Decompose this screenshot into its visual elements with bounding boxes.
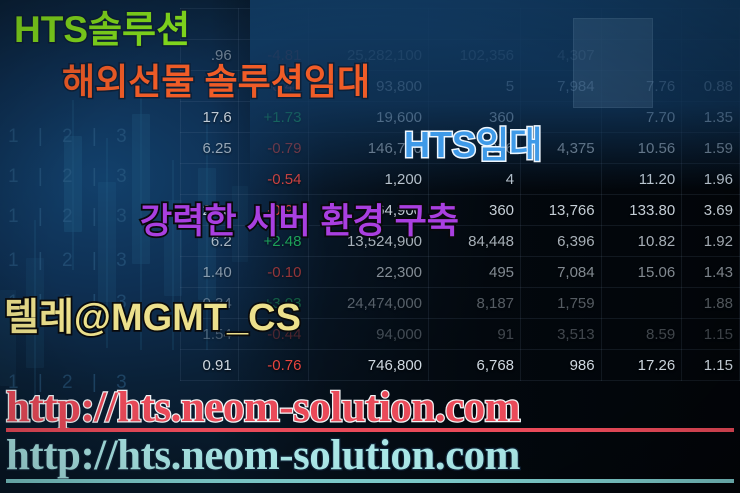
table-cell: 1.15 (682, 350, 740, 381)
table-cell: 17.6 (181, 102, 239, 133)
table-cell: 1,759 (521, 288, 602, 319)
table-cell: 0.88 (682, 71, 740, 102)
table-cell: -0.79 (238, 133, 308, 164)
table-cell: 3.69 (682, 195, 740, 226)
table-cell: 0.91 (181, 350, 239, 381)
promo-headline-4: 강력한 서버 환경 구축 (140, 204, 459, 239)
table-cell: -0.10 (238, 257, 308, 288)
table-cell: 15.06 (601, 257, 682, 288)
table-cell: 7,084 (521, 257, 602, 288)
table-cell: 1.88 (682, 288, 740, 319)
column-marker: 1 | 2 | 3 (8, 206, 134, 228)
table-cell: 495 (429, 257, 521, 288)
highlight-box (573, 18, 653, 108)
table-cell: 11.20 (601, 164, 682, 195)
table-row: -0.541,200411.201.96 (181, 164, 740, 195)
column-marker: 1 | 2 | 3 (8, 166, 134, 188)
table-cell: 6.25 (181, 133, 239, 164)
table-cell: 133.80 (601, 195, 682, 226)
column-marker: 1 | 2 | 3 (8, 250, 134, 272)
table-cell: 10.56 (601, 133, 682, 164)
table-cell (238, 9, 308, 40)
table-cell: +1.73 (238, 102, 308, 133)
table-cell: 3,513 (521, 319, 602, 350)
table-cell: 8,187 (429, 288, 521, 319)
table-cell: 1.40 (181, 257, 239, 288)
table-cell: 4 (429, 164, 521, 195)
promo-headline-1: HTS솔루션 (14, 11, 190, 48)
promo-banner: 1 | 2 | 3 1 | 2 | 3 1 | 2 | 3 1 | 2 | 3 … (0, 0, 740, 493)
promo-headline-2: 해외선물 솔루션임대 (62, 64, 370, 100)
table-row (181, 9, 740, 40)
table-cell (308, 9, 429, 40)
table-cell: 6,768 (429, 350, 521, 381)
promo-telegram-handle: 텔레@MGMT_CS (4, 299, 301, 337)
table-cell: 102,356 (429, 40, 521, 71)
table-cell: 986 (521, 350, 602, 381)
table-cell (429, 9, 521, 40)
table-cell: 8.59 (601, 319, 682, 350)
table-cell: 1.43 (682, 257, 740, 288)
table-cell (521, 164, 602, 195)
table-cell (682, 40, 740, 71)
table-cell: -0.76 (238, 350, 308, 381)
table-cell: 1.15 (682, 319, 740, 350)
promo-url-secondary[interactable]: http://hts.neom-solution.com (6, 434, 520, 477)
table-cell: 10.82 (601, 226, 682, 257)
table-cell: -0.54 (238, 164, 308, 195)
table-cell: 91 (429, 319, 521, 350)
table-cell: 1,200 (308, 164, 429, 195)
table-cell: 1.96 (682, 164, 740, 195)
table-cell: 746,800 (308, 350, 429, 381)
table-cell (181, 164, 239, 195)
promo-url-primary[interactable]: http://hts.neom-solution.com (6, 386, 520, 429)
table-cell: 1.35 (682, 102, 740, 133)
table-row: 0.91-0.76746,8006,76898617.261.15 (181, 350, 740, 381)
table-cell: 24,474,000 (308, 288, 429, 319)
url-underline-secondary (6, 479, 734, 483)
table-row: 1.40-0.1022,3004957,08415.061.43 (181, 257, 740, 288)
column-marker: 1 | 2 | 3 (8, 126, 134, 148)
table-cell: 6,396 (521, 226, 602, 257)
table-cell (601, 288, 682, 319)
table-cell: 94,000 (308, 319, 429, 350)
table-cell: 1.59 (682, 133, 740, 164)
table-cell: 1.92 (682, 226, 740, 257)
table-cell: 22,300 (308, 257, 429, 288)
promo-headline-3: HTS임대 (404, 127, 542, 163)
table-cell: 13,766 (521, 195, 602, 226)
table-cell: 17.26 (601, 350, 682, 381)
table-cell: 5 (429, 71, 521, 102)
table-cell (682, 9, 740, 40)
